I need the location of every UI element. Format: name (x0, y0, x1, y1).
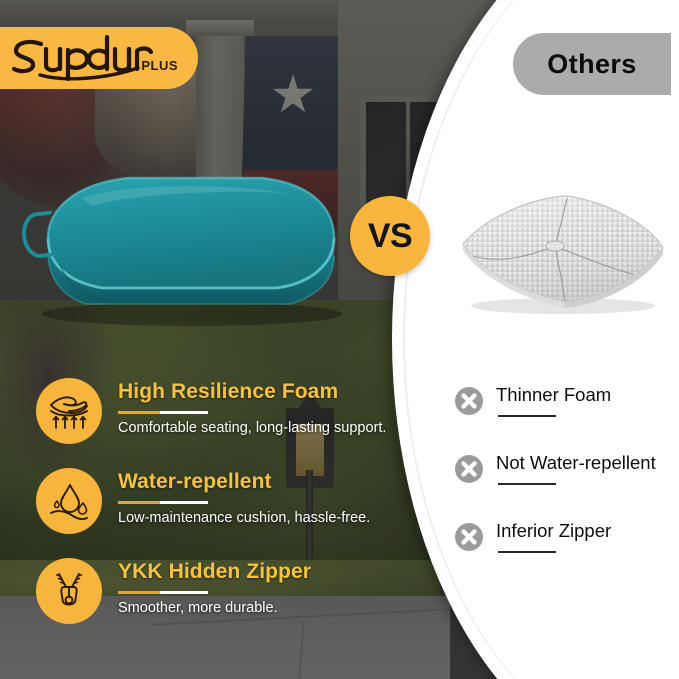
drawback-divider (498, 415, 556, 417)
feature-subtitle: Smoother, more durable. (118, 600, 386, 616)
feature-title: YKK Hidden Zipper (118, 560, 386, 584)
brand-logo-suffix: PLUS (141, 58, 178, 73)
x-circle-icon (454, 454, 484, 484)
feature-title: High Resilience Foam (118, 380, 386, 404)
feature-item: High Resilience Foam Comfortable seating… (36, 374, 386, 464)
drawback-list: Thinner Foam Not Water-repellent (454, 386, 679, 590)
drawback-divider (498, 483, 556, 485)
generic-cushion-image (455, 182, 670, 317)
feature-text-block: Water-repellent Low-maintenance cushion,… (118, 470, 386, 526)
foam-hand-glyph (47, 389, 91, 433)
feature-text-block: High Resilience Foam Comfortable seating… (118, 380, 386, 436)
brand-logo: PLUS (0, 27, 198, 89)
drawback-divider (498, 551, 556, 553)
drawback-item: Not Water-repellent (454, 454, 679, 522)
drawback-text-block: Not Water-repellent (496, 452, 656, 485)
cushion-teal-icon (22, 168, 352, 328)
feature-divider (118, 591, 208, 594)
drawback-text-block: Inferior Zipper (496, 520, 611, 553)
others-badge-label: Others (547, 49, 636, 80)
drawback-item: Thinner Foam (454, 386, 679, 454)
feature-title: Water-repellent (118, 470, 386, 494)
x-circle-glyph (454, 454, 484, 484)
others-badge: Others (513, 33, 671, 95)
vs-badge: VS (350, 196, 430, 276)
zipper-icon (36, 558, 102, 624)
drawback-label: Not Water-repellent (496, 452, 656, 474)
foam-hand-icon (36, 378, 102, 444)
feature-list: High Resilience Foam Comfortable seating… (36, 374, 386, 644)
feature-subtitle: Low-maintenance cushion, hassle-free. (118, 510, 386, 526)
zipper-glyph (47, 569, 91, 613)
comparison-infographic: PLUS Others (0, 0, 679, 679)
drawback-label: Inferior Zipper (496, 520, 611, 542)
drawback-label: Thinner Foam (496, 384, 611, 406)
water-drop-icon (36, 468, 102, 534)
feature-text-block: YKK Hidden Zipper Smoother, more durable… (118, 560, 386, 616)
brand-logo-wordmark: PLUS (10, 35, 180, 81)
feature-divider (118, 501, 208, 504)
feature-item: Water-repellent Low-maintenance cushion,… (36, 464, 386, 554)
vs-label: VS (368, 217, 412, 256)
x-circle-glyph (454, 522, 484, 552)
drawback-item: Inferior Zipper (454, 522, 679, 590)
x-circle-icon (454, 522, 484, 552)
cushion-generic-icon (455, 182, 670, 317)
feature-subtitle: Comfortable seating, long-lasting suppor… (118, 420, 386, 436)
x-circle-glyph (454, 386, 484, 416)
teal-cushion-image (22, 168, 352, 328)
feature-item: YKK Hidden Zipper Smoother, more durable… (36, 554, 386, 644)
drawback-text-block: Thinner Foam (496, 384, 611, 417)
x-circle-icon (454, 386, 484, 416)
feature-divider (118, 411, 208, 414)
water-drop-glyph (47, 479, 91, 523)
